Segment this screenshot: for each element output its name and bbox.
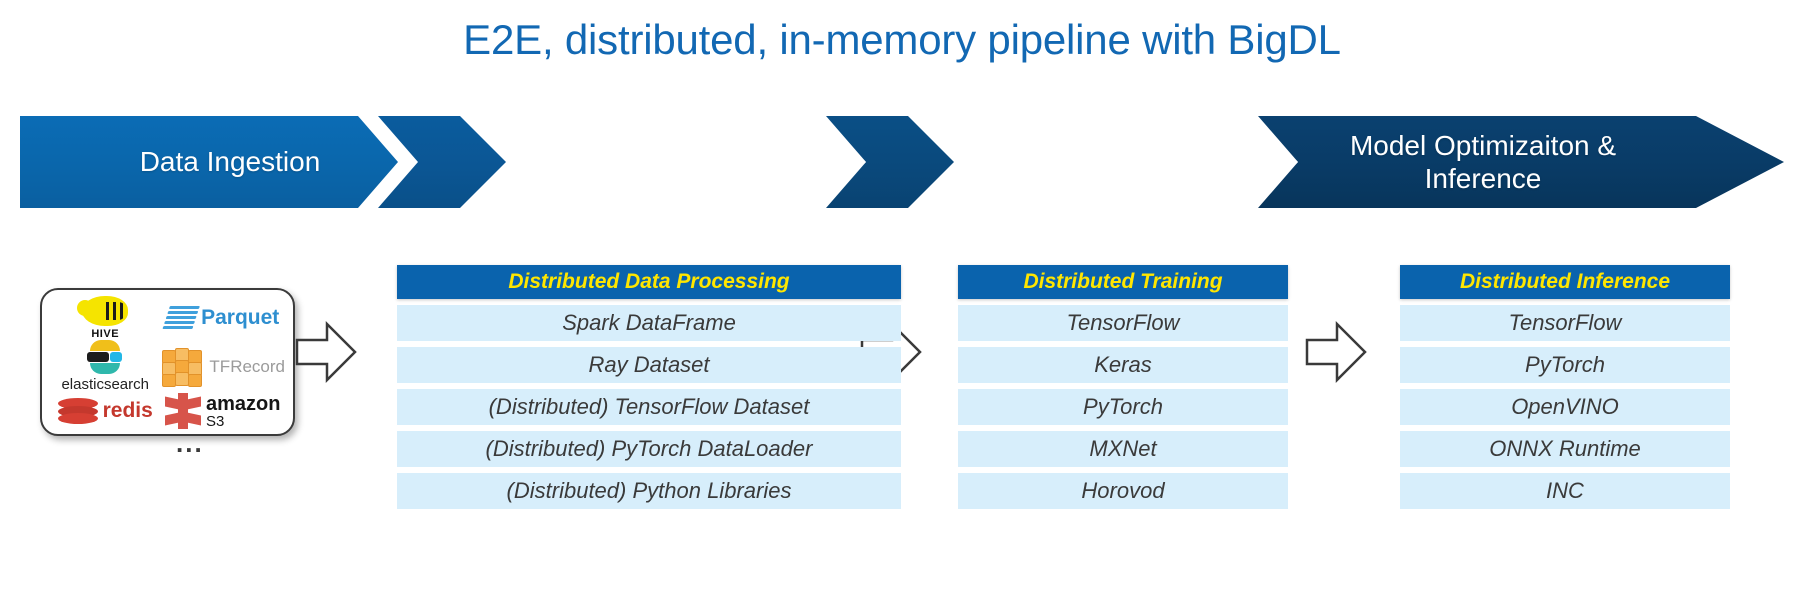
amazon-s3-icon <box>165 393 201 429</box>
redis-icon <box>58 398 98 424</box>
table-row[interactable]: Ray Dataset <box>397 347 901 383</box>
table-row[interactable]: ONNX Runtime <box>1400 431 1730 467</box>
pipeline-stage-model-training-evaluation[interactable]: Model Training & Evaluation <box>820 116 1304 208</box>
table-row[interactable]: PyTorch <box>1400 347 1730 383</box>
elasticsearch-label: elasticsearch <box>61 376 149 393</box>
data-sources-box: HIVE Parquet elasticsearch TFRecord <box>40 288 295 436</box>
table-row[interactable]: TensorFlow <box>1400 305 1730 341</box>
table-row[interactable]: MXNet <box>958 431 1288 467</box>
table-distributed-inference: Distributed Inference TensorFlow PyTorch… <box>1400 265 1730 509</box>
parquet-icon <box>162 306 200 330</box>
elasticsearch-logo: elasticsearch <box>61 340 149 393</box>
table-header: Distributed Training <box>958 265 1288 299</box>
parquet-label: Parquet <box>201 306 279 330</box>
table-row[interactable]: Spark DataFrame <box>397 305 901 341</box>
table-row[interactable]: TensorFlow <box>958 305 1288 341</box>
table-header: Distributed Data Processing <box>397 265 901 299</box>
hive-logo: HIVE <box>82 296 128 340</box>
tfrecord-label: TFRecord <box>209 357 285 377</box>
arrow-sources-to-processing <box>295 318 357 386</box>
pipeline-stage-label: Model Optimizaiton & Inference <box>1340 129 1696 195</box>
amazon-s3-sublabel: S3 <box>206 414 280 429</box>
hive-bee-icon <box>82 296 128 326</box>
table-row[interactable]: (Distributed) TensorFlow Dataset <box>397 389 901 425</box>
hive-label: HIVE <box>91 328 119 340</box>
table-row[interactable]: Keras <box>958 347 1288 383</box>
tfrecord-icon <box>160 348 204 386</box>
slide-canvas: E2E, distributed, in-memory pipeline wit… <box>0 0 1804 601</box>
elasticsearch-icon <box>87 340 123 374</box>
pipeline-stage-model-optimization-inference[interactable]: Model Optimizaiton & Inference <box>1252 116 1784 208</box>
pipeline-stage-label: Data Ingestion <box>140 145 321 178</box>
amazon-s3-logo: amazon S3 <box>165 393 280 429</box>
tfrecord-logo: TFRecord <box>160 348 285 386</box>
amazon-label: amazon <box>206 394 280 414</box>
table-row[interactable]: OpenVINO <box>1400 389 1730 425</box>
table-distributed-training: Distributed Training TensorFlow Keras Py… <box>958 265 1288 509</box>
table-row[interactable]: (Distributed) PyTorch DataLoader <box>397 431 901 467</box>
redis-label: redis <box>103 399 153 423</box>
data-sources-grid: HIVE Parquet elasticsearch TFRecord <box>50 296 285 428</box>
pipeline-stage-feature-transformation[interactable]: Feature Transformation <box>372 116 872 208</box>
table-header: Distributed Inference <box>1400 265 1730 299</box>
table-row[interactable]: Horovod <box>958 473 1288 509</box>
redis-logo: redis <box>58 398 153 424</box>
pipeline-stage-label: Feature Transformation <box>498 129 745 195</box>
pipeline-stage-label: Model Training & Evaluation <box>927 129 1197 195</box>
page-title: E2E, distributed, in-memory pipeline wit… <box>0 16 1804 64</box>
arrow-training-to-inference <box>1305 318 1367 386</box>
more-sources-ellipsis: ... <box>176 428 204 459</box>
table-row[interactable]: (Distributed) Python Libraries <box>397 473 901 509</box>
parquet-logo: Parquet <box>166 306 279 330</box>
table-distributed-data-processing: Distributed Data Processing Spark DataFr… <box>397 265 901 509</box>
table-row[interactable]: PyTorch <box>958 389 1288 425</box>
pipeline-banner: Data Ingestion Feature Transformation Mo… <box>20 116 1784 208</box>
table-row[interactable]: INC <box>1400 473 1730 509</box>
